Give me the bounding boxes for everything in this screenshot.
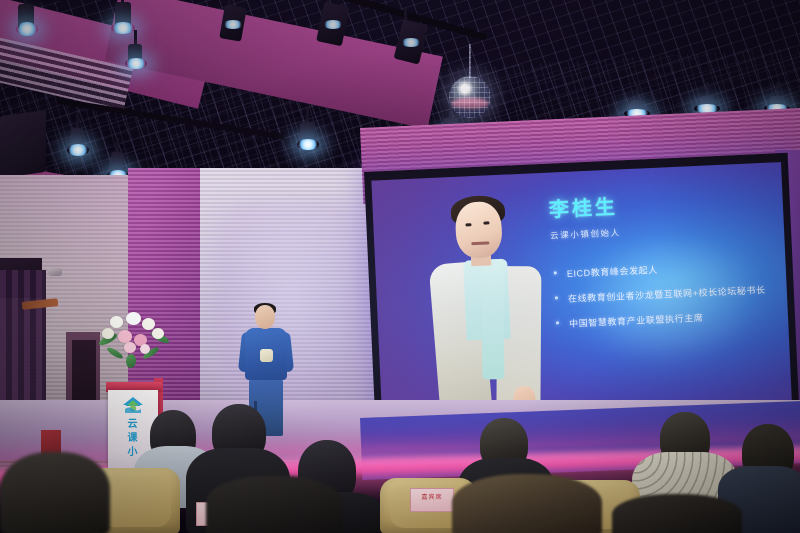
loudspeaker-box-upper: [0, 110, 46, 178]
slide-bullet-item: 在线教育创业者沙龙暨互联网+校长论坛秘书长: [553, 282, 775, 305]
foreground-audience-head: [206, 476, 342, 533]
microphone-icon: [260, 349, 273, 362]
slide-speaker-name: 李桂生: [548, 191, 771, 221]
conference-photo-scene: 李桂生 云课小镇创始人 EICD教育峰会发起人 在线教育创业者沙龙暨互联网+校长…: [0, 0, 800, 533]
mirror-ball: [449, 76, 491, 118]
slide-portrait-photo: [420, 195, 548, 422]
foreground-audience-head: [452, 474, 602, 533]
foreground-audience-head: [612, 494, 742, 533]
projection-screen[interactable]: 李桂生 云课小镇创始人 EICD教育峰会发起人 在线教育创业者沙龙暨互联网+校长…: [371, 162, 792, 425]
mirror-ball-cord: [469, 44, 471, 78]
slide-bullet-item: 中国智慧教育产业联盟执行主席: [554, 307, 776, 330]
floral-arrangement: [96, 312, 172, 366]
slide-text-block: 李桂生 云课小镇创始人 EICD教育峰会发起人 在线教育创业者沙龙暨互联网+校长…: [548, 191, 776, 343]
projection-screen-frame: 李桂生 云课小镇创始人 EICD教育峰会发起人 在线教育创业者沙龙暨互联网+校长…: [364, 153, 799, 434]
foreground-audience-head: [0, 452, 110, 533]
wall-sconce-icon: [48, 268, 62, 276]
slide-bullet-item: EICD教育峰会发起人: [552, 258, 774, 281]
slide-bullet-list: EICD教育峰会发起人 在线教育创业者沙龙暨互联网+校长论坛秘书长 中国智慧教育…: [552, 258, 777, 331]
house-cloud-logo-icon: [121, 396, 145, 416]
table-placard: 嘉宾席: [410, 488, 454, 512]
slide-speaker-title: 云课小镇创始人: [550, 220, 772, 242]
